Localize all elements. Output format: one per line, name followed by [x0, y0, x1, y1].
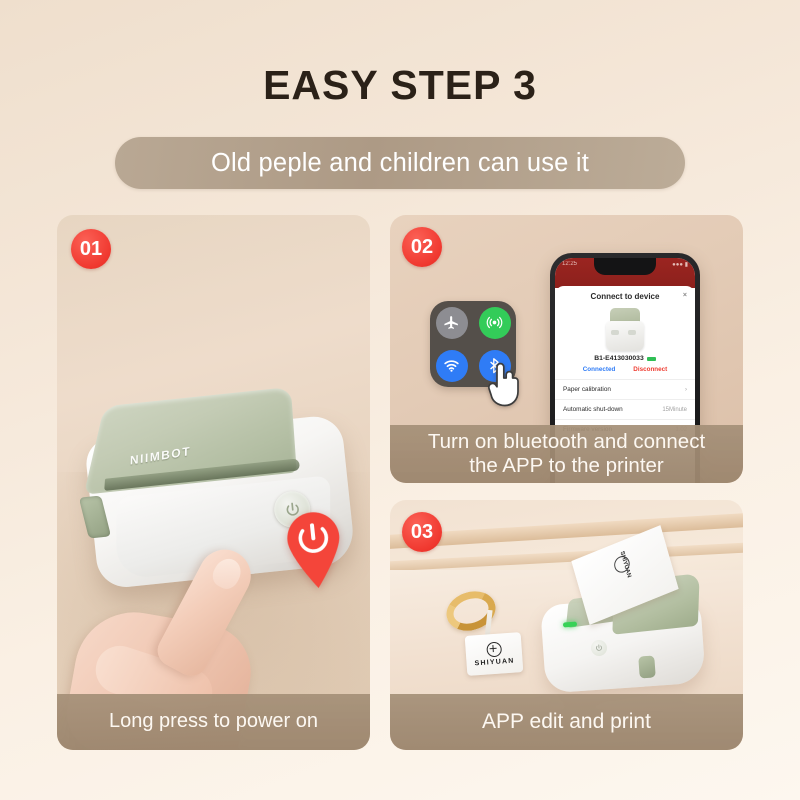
battery-icon — [647, 357, 656, 361]
power-icon — [595, 644, 604, 653]
status-led-indicator — [563, 622, 577, 628]
wifi-icon — [443, 357, 460, 374]
gold-ring: SHIYUAN — [446, 592, 496, 630]
device-thumb-button-left — [611, 330, 619, 335]
step-panel-03[interactable]: SHIYUAN SHIYUAN — [390, 500, 743, 750]
status-time: 12:25 — [562, 261, 577, 273]
row-label: Automatic shut-down — [563, 406, 623, 413]
panel-02-caption-line2: the APP to the printer — [469, 454, 664, 477]
device-thumb-body — [606, 321, 644, 351]
row-label: Paper calibration — [563, 386, 611, 393]
wifi-toggle[interactable] — [436, 350, 468, 382]
device-links: Connected Disconnect — [555, 366, 695, 373]
tag-text: SHIYUAN — [474, 658, 514, 668]
cellular-data-toggle[interactable] — [479, 307, 511, 339]
panel-02-caption-line1: Turn on bluetooth and connect — [428, 430, 705, 453]
row-automatic-shutdown[interactable]: Automatic shut-down 15Minute — [555, 399, 695, 419]
status-indicators: ●●● ▮ — [672, 261, 688, 273]
phone-notch — [594, 258, 656, 275]
cellular-icon — [486, 314, 503, 331]
close-icon[interactable]: × — [683, 292, 687, 299]
jewelry-price-tag: SHIYUAN — [465, 632, 524, 676]
panel-01-caption-text: Long press to power on — [109, 710, 318, 733]
airplane-mode-toggle[interactable] — [436, 307, 468, 339]
panel-02-caption-text: Turn on bluetooth and connect the APP to… — [428, 430, 705, 478]
disconnect-link[interactable]: Disconnect — [633, 366, 667, 373]
panel-02-caption: Turn on bluetooth and connect the APP to… — [390, 425, 743, 483]
page-title: EASY STEP 3 — [0, 62, 800, 109]
tap-cursor — [482, 358, 526, 410]
row-paper-calibration[interactable]: Paper calibration › — [555, 379, 695, 399]
printer-side-slot — [638, 655, 655, 678]
chevron-right-icon: › — [685, 387, 687, 393]
infographic-page: EASY STEP 3 Old peple and children can u… — [0, 0, 800, 800]
device-thumb-button-right — [628, 330, 636, 335]
step-badge-03: 03 — [402, 512, 442, 552]
airplane-icon — [443, 314, 460, 331]
step-badge-02: 02 — [402, 227, 442, 267]
device-thumbnail — [604, 308, 646, 352]
hand-cursor-icon — [482, 358, 526, 410]
tag-logo-icon — [486, 642, 502, 658]
label-printer-printing: SHIYUAN — [535, 548, 720, 698]
device-name: B1-E413030033 — [594, 355, 644, 362]
sheet-title: Connect to device — [591, 292, 660, 301]
subtitle-text: Old peple and children can use it — [211, 149, 589, 178]
row-value: 15Minute — [662, 407, 687, 413]
panel-01-caption: Long press to power on — [57, 694, 370, 750]
sheet-header: Connect to device × — [555, 286, 695, 306]
step-badge-01: 01 — [71, 229, 111, 269]
step-panel-02[interactable]: 12:25 ●●● ▮ Connect to device × — [390, 215, 743, 483]
panel-03-caption-text: APP edit and print — [482, 710, 651, 734]
panel-03-caption: APP edit and print — [390, 694, 743, 750]
background-shelf-top — [390, 512, 743, 550]
subtitle-banner: Old peple and children can use it — [115, 137, 685, 189]
panel-01-photo: NIIMBOT — [57, 215, 370, 750]
connected-link[interactable]: Connected — [583, 366, 616, 373]
step-panel-01[interactable]: NIIMBOT — [57, 215, 370, 750]
device-name-row: B1-E413030033 — [555, 355, 695, 362]
fingernail — [209, 554, 246, 593]
